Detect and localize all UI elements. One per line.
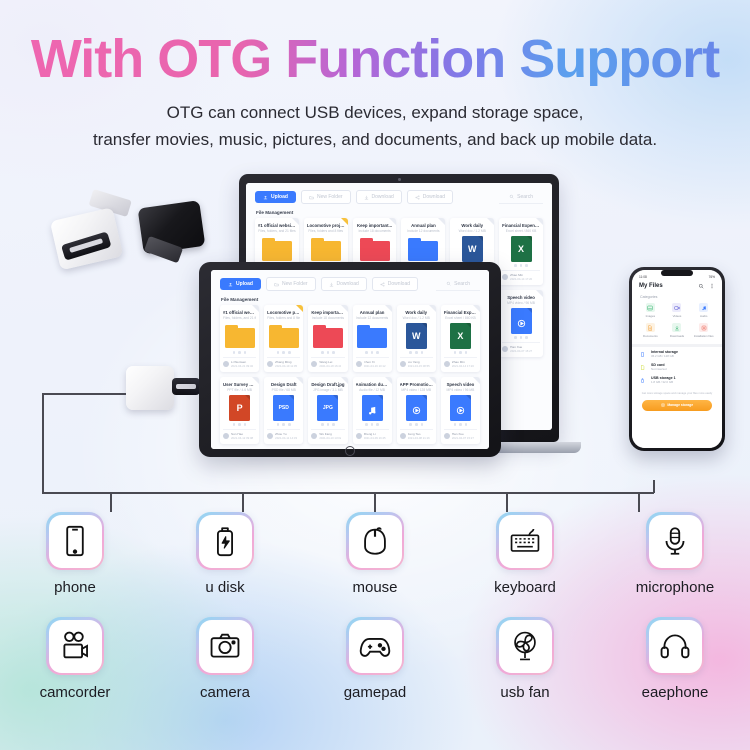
avatar xyxy=(311,433,317,439)
file-card[interactable]: Keep important...Include 18 documentsWan… xyxy=(308,305,347,372)
file-art: PSD xyxy=(267,395,300,421)
file-actions[interactable] xyxy=(444,423,477,426)
card-corner-icon xyxy=(473,377,480,384)
app-header: My Files xyxy=(632,280,722,293)
file-card[interactable]: Design DraftPSD file / 68 MBPSDZhou Yu20… xyxy=(264,377,303,444)
icon-tile xyxy=(346,617,404,675)
category-label: Images xyxy=(638,314,663,318)
section-title: File Management xyxy=(211,296,489,305)
device-icon-keyboard[interactable]: keyboard xyxy=(450,512,600,596)
file-subtitle: Word doc / 1.2 MB xyxy=(400,316,433,320)
category-label: Audio xyxy=(691,314,716,318)
file-actions[interactable] xyxy=(223,351,256,354)
device-icon-phone[interactable]: phone xyxy=(0,512,150,596)
avatar xyxy=(502,346,508,352)
folder-plus-icon xyxy=(309,195,314,200)
icon-tile xyxy=(496,617,554,675)
poster-stage: With OTG Function Support OTG can connec… xyxy=(0,0,750,750)
avatar xyxy=(311,361,317,367)
file-art xyxy=(356,236,394,262)
folder-plus-icon xyxy=(274,282,279,287)
file-card[interactable]: User Survey ReportPPT file / 4.6 MBPSun … xyxy=(220,377,259,444)
file-meta: Li Wenwen2021-04-21 09:32 xyxy=(231,360,253,368)
usb-a-slot xyxy=(61,231,112,260)
file-card[interactable]: Locomotive projectFiles, folders and 8 f… xyxy=(264,305,303,372)
storage-row[interactable]: Internal storage36.2 GB / 128 GB xyxy=(639,350,715,358)
file-card[interactable]: Annual planInclude 12 documentsChen Xi20… xyxy=(353,305,392,372)
wire-drop-udisk xyxy=(242,492,244,512)
file-art xyxy=(356,323,389,349)
file-type-icon: X xyxy=(450,323,471,349)
device-icon-u-disk[interactable]: u disk xyxy=(150,512,300,596)
adapter-body xyxy=(126,366,174,410)
file-subtitle: Files, folders, and 21 files xyxy=(223,316,256,320)
webcam-icon xyxy=(398,178,401,181)
category-item[interactable]: Audio xyxy=(691,303,716,318)
download-icon xyxy=(364,195,369,200)
avatar xyxy=(444,433,450,439)
storage-row[interactable]: SD cardNot inserted xyxy=(639,363,715,371)
more-menu-icon[interactable] xyxy=(709,283,715,289)
file-art: P xyxy=(223,395,256,421)
card-corner-icon xyxy=(341,305,348,312)
file-footer: Zhang Ming2021-04-19 11:05 xyxy=(267,357,300,369)
file-footer: Zhou Yu2021-04-11 14:33 xyxy=(267,429,300,441)
avatar xyxy=(356,433,362,439)
avatar xyxy=(502,274,508,280)
card-corner-icon xyxy=(292,218,299,225)
upload-icon xyxy=(228,282,233,287)
camcorder-icon xyxy=(49,620,102,673)
device-icon-mouse[interactable]: mouse xyxy=(300,512,450,596)
file-footer: Li Wenwen2021-04-21 09:32 xyxy=(223,357,256,369)
download-icon xyxy=(672,323,681,332)
search-input[interactable]: Search xyxy=(436,278,480,291)
search-icon xyxy=(509,194,514,199)
share-icon xyxy=(415,195,420,200)
device-icon-label: eaephone xyxy=(642,684,709,701)
phone-storage-icon xyxy=(639,350,646,358)
tablet-screen: Upload New Folder Download Download xyxy=(211,270,489,449)
fm-toolbar-tablet: Upload New Folder Download Download xyxy=(211,270,489,296)
icon-tile xyxy=(346,512,404,570)
avatar xyxy=(223,433,229,439)
file-subtitle: PPT file / 4.6 MB xyxy=(223,388,256,392)
device-icon-label: gamepad xyxy=(344,684,407,701)
share-label: Download xyxy=(388,281,410,287)
file-actions[interactable] xyxy=(267,423,300,426)
device-icon-gamepad[interactable]: gamepad xyxy=(300,617,450,701)
new-folder-button[interactable]: New Folder xyxy=(266,277,316,291)
file-subtitle: Include 12 documents xyxy=(404,229,442,233)
folder-icon xyxy=(262,238,292,261)
file-art: JPG xyxy=(311,395,344,421)
icon-tile xyxy=(646,617,704,675)
avatar xyxy=(267,361,273,367)
storage-list: Internal storage36.2 GB / 128 GBSD cardN… xyxy=(632,347,722,387)
file-title: #1 official website... xyxy=(258,223,296,228)
file-actions[interactable] xyxy=(400,423,433,426)
file-footer: Han Xue2021-04-07 15:27 xyxy=(502,342,540,354)
storage-text: USB storage 11.8 GB / 32.0 GB xyxy=(651,376,676,384)
folder-icon xyxy=(360,238,390,261)
adapter-body xyxy=(50,207,124,270)
search-placeholder: Search xyxy=(517,194,533,200)
file-art xyxy=(311,323,344,349)
file-title: Financial Expenditure... xyxy=(502,223,540,228)
card-corner-icon xyxy=(385,305,392,312)
card-corner-icon xyxy=(473,305,480,312)
file-title: Speech video xyxy=(502,295,540,300)
tablet-body: Upload New Folder Download Download xyxy=(199,262,501,457)
device-icon-label: mouse xyxy=(352,579,397,596)
share-label: Download xyxy=(423,194,445,200)
category-label: Downloads xyxy=(665,334,690,338)
file-meta: Han Xue2021-04-07 15:27 xyxy=(510,345,532,353)
microphone-icon xyxy=(649,515,702,568)
avatar xyxy=(223,361,229,367)
home-button[interactable] xyxy=(345,446,355,456)
file-meta: Zhao Min2021-04-14 17:20 xyxy=(510,273,532,281)
tablet-device: Upload New Folder Download Download xyxy=(199,262,501,457)
folder-icon xyxy=(408,238,438,261)
file-meta: Chen Xi2021-04-16 10:12 xyxy=(364,360,386,368)
card-corner-icon xyxy=(536,290,543,297)
card-corner-icon xyxy=(341,377,348,384)
categories-grid: ImagesVideosAudioDocumentsDownloadsInsta… xyxy=(632,302,722,344)
document-icon xyxy=(646,323,655,332)
device-icon-label: keyboard xyxy=(494,579,556,596)
file-meta: Zhao Min2021-04-14 17:20 xyxy=(452,360,474,368)
page-title: With OTG Function Support xyxy=(0,32,750,86)
file-type-icon: JPG xyxy=(317,395,338,421)
share-button[interactable]: Download xyxy=(372,277,418,291)
device-icon-label: camcorder xyxy=(40,684,111,701)
file-card[interactable]: Work dailyWord doc / 1.2 MBWLiu Yang2021… xyxy=(397,305,436,372)
file-type-icon xyxy=(406,395,427,421)
card-corner-icon xyxy=(487,218,494,225)
file-card[interactable]: #1 official website...Files, folders, an… xyxy=(220,305,259,372)
file-subtitle: Include 12 documents xyxy=(356,316,389,320)
card-corner-icon xyxy=(296,305,303,312)
folder-icon xyxy=(269,325,299,348)
file-subtitle: MP4 video / 96 MB xyxy=(502,301,540,305)
card-corner-icon xyxy=(252,377,259,384)
file-card[interactable]: Speech videoMP4 video / 96 MBHan Xue2021… xyxy=(441,377,480,444)
fm-toolbar: Upload New Folder Download Download xyxy=(246,183,552,209)
share-icon xyxy=(380,282,385,287)
file-footer: Zhao Min2021-04-14 17:20 xyxy=(502,270,540,282)
file-art: X xyxy=(502,236,540,262)
file-card[interactable]: Animation dubbingAudio file / 12 MBZheng… xyxy=(353,377,392,444)
category-item[interactable]: Installation files xyxy=(691,323,716,338)
search-placeholder: Search xyxy=(454,281,470,287)
file-art xyxy=(258,236,296,262)
phone-icon xyxy=(49,515,102,568)
file-actions[interactable] xyxy=(356,423,389,426)
image-icon xyxy=(646,303,655,312)
folder-icon xyxy=(225,325,255,348)
phone-notch xyxy=(661,270,693,276)
file-card[interactable]: Financial Expenditure...Excel sheet / 86… xyxy=(499,218,543,285)
file-title: Locomotive project xyxy=(307,223,345,228)
new-folder-button[interactable]: New Folder xyxy=(301,190,351,204)
download-label: Download xyxy=(337,281,359,287)
card-corner-icon xyxy=(341,218,348,225)
device-icon-camcorder[interactable]: camcorder xyxy=(0,617,150,701)
file-footer: Zheng Li2021-04-09 19:45 xyxy=(356,429,389,441)
phone-screen: 11:08 76% My Files Categories ImagesVide… xyxy=(632,270,722,448)
upload-label: Upload xyxy=(236,281,253,287)
file-meta: Zhang Ming2021-04-19 11:05 xyxy=(275,360,297,368)
file-type-icon xyxy=(362,395,383,421)
device-icon-label: microphone xyxy=(636,579,714,596)
search-input[interactable]: Search xyxy=(499,191,543,204)
avatar xyxy=(356,361,362,367)
app-title: My Files xyxy=(639,283,663,289)
file-type-icon: W xyxy=(406,323,427,349)
file-art xyxy=(400,395,433,421)
icon-tile xyxy=(646,512,704,570)
file-actions[interactable] xyxy=(502,336,540,339)
search-icon[interactable] xyxy=(698,283,704,289)
file-footer: Sun Hao2021-04-12 09:08 xyxy=(223,429,256,441)
file-actions[interactable] xyxy=(267,351,300,354)
otg-adapter-white-connected xyxy=(126,364,204,416)
storage-note: Get more storage space and manage your f… xyxy=(632,387,722,399)
wire-drop-keyboard xyxy=(506,492,508,512)
download-icon xyxy=(329,282,334,287)
upload-label: Upload xyxy=(271,194,288,200)
file-footer: Wu Fang2021-04-10 13:02 xyxy=(311,429,344,441)
file-footer: Chen Xi2021-04-16 10:12 xyxy=(356,357,389,369)
storage-text: Internal storage36.2 GB / 128 GB xyxy=(651,350,678,358)
avatar xyxy=(267,433,273,439)
upload-button[interactable]: Upload xyxy=(255,191,296,203)
audio-icon xyxy=(699,303,708,312)
icon-tile xyxy=(196,617,254,675)
icon-tile xyxy=(496,512,554,570)
manage-storage-label: Manage storage xyxy=(667,403,693,407)
new-folder-label: New Folder xyxy=(317,194,343,200)
earphone-icon xyxy=(649,620,702,673)
camera-icon xyxy=(199,620,252,673)
avatar xyxy=(400,433,406,439)
file-meta: Wu Fang2021-04-10 13:02 xyxy=(319,432,341,440)
category-item[interactable]: Downloads xyxy=(665,323,690,338)
wire-down-left xyxy=(42,393,44,493)
mouse-icon xyxy=(349,515,402,568)
device-icon-microphone[interactable]: microphone xyxy=(600,512,750,596)
file-card[interactable]: Design Draft.jpgJPG image / 3.1 MBJPGWu … xyxy=(308,377,347,444)
icon-tile xyxy=(46,617,104,675)
card-corner-icon xyxy=(252,305,259,312)
file-meta: Liu Yang2021-04-15 08:55 xyxy=(408,360,430,368)
file-footer: Liu Yang2021-04-15 08:55 xyxy=(400,357,433,369)
search-icon xyxy=(446,281,451,286)
file-type-icon xyxy=(511,308,532,334)
card-corner-icon xyxy=(389,218,396,225)
category-item[interactable]: Documents xyxy=(638,323,663,338)
file-meta: Sun Hao2021-04-12 09:08 xyxy=(231,432,253,440)
file-subtitle: Audio file / 12 MB xyxy=(356,388,389,392)
file-subtitle: MP4 video / 96 MB xyxy=(444,388,477,392)
file-subtitle: Files, folders and 8 files xyxy=(267,316,300,320)
file-type-icon: PSD xyxy=(273,395,294,421)
file-subtitle: Files, folders, and 21 files xyxy=(258,229,296,233)
card-corner-icon xyxy=(296,377,303,384)
file-actions[interactable] xyxy=(400,351,433,354)
share-button[interactable]: Download xyxy=(407,190,453,204)
manage-storage-button[interactable]: Manage storage xyxy=(642,400,712,411)
file-actions[interactable] xyxy=(311,351,344,354)
device-icon-label: u disk xyxy=(205,579,244,596)
subtitle-line-2: transfer movies, music, pictures, and do… xyxy=(0,127,750,153)
file-art xyxy=(223,323,256,349)
file-subtitle: Include 18 documents xyxy=(356,229,394,233)
file-art xyxy=(356,395,389,421)
file-subtitle: Files, folders and 8 files xyxy=(307,229,345,233)
file-subtitle: Excel sheet / 860 KB xyxy=(444,316,477,320)
categories-label: Categories xyxy=(632,293,722,302)
file-title: Keep important... xyxy=(356,223,394,228)
file-subtitle: MP4 video / 128 MB xyxy=(400,388,433,392)
file-footer: Han Xue2021-04-07 15:27 xyxy=(444,429,477,441)
storage-row[interactable]: USB storage 11.8 GB / 32.0 GB xyxy=(639,376,715,384)
file-art: W xyxy=(400,323,433,349)
category-label: Documents xyxy=(638,334,663,338)
card-corner-icon xyxy=(536,218,543,225)
folder-icon xyxy=(357,325,387,348)
file-art xyxy=(404,236,442,262)
device-icon-row-2: camcordercameragamepadusb faneaephone xyxy=(0,617,750,701)
file-card[interactable]: Financial Expenditure...Excel sheet / 86… xyxy=(441,305,480,372)
file-type-icon xyxy=(450,395,471,421)
category-item[interactable]: Videos xyxy=(665,303,690,318)
wire-drop-mouse xyxy=(374,492,376,512)
file-actions[interactable] xyxy=(311,423,344,426)
wire-drop-phone xyxy=(110,492,112,512)
file-footer: Feng Tao2021-04-08 21:16 xyxy=(400,429,433,441)
card-corner-icon xyxy=(429,377,436,384)
new-folder-label: New Folder xyxy=(282,281,308,287)
file-meta: Zheng Li2021-04-09 19:45 xyxy=(364,432,386,440)
file-card[interactable]: APP Promotional VideoMP4 video / 128 MBF… xyxy=(397,377,436,444)
file-title: Work daily xyxy=(453,223,491,228)
usb-fan-icon xyxy=(499,620,552,673)
file-grid-tablet: #1 official website...Files, folders, an… xyxy=(211,305,489,444)
sd-card-icon xyxy=(639,363,646,371)
file-meta: Zhou Yu2021-04-11 14:33 xyxy=(275,432,297,440)
download-button[interactable]: Download xyxy=(356,190,402,204)
device-icon-label: camera xyxy=(200,684,250,701)
file-manager-tablet: Upload New Folder Download Download xyxy=(211,270,489,449)
upload-button[interactable]: Upload xyxy=(220,278,261,290)
file-subtitle: JPG image / 3.1 MB xyxy=(311,388,344,392)
file-subtitle: Word doc / 1.2 MB xyxy=(453,229,491,233)
file-art xyxy=(502,308,540,334)
card-corner-icon xyxy=(385,377,392,384)
file-footer: Zhao Min2021-04-14 17:20 xyxy=(444,357,477,369)
file-title: Annual plan xyxy=(404,223,442,228)
device-icon-camera[interactable]: camera xyxy=(150,617,300,701)
icon-tile xyxy=(196,512,254,570)
subtitle-line-1: OTG can connect USB devices, expand stor… xyxy=(0,100,750,126)
file-subtitle: Include 18 documents xyxy=(311,316,344,320)
storage-text: SD cardNot inserted xyxy=(651,363,667,371)
folder-icon xyxy=(313,325,343,348)
status-time: 11:08 xyxy=(639,275,647,279)
file-subtitle: Excel sheet / 860 KB xyxy=(502,229,540,233)
file-type-icon: X xyxy=(511,236,532,262)
wire-bus xyxy=(42,492,654,494)
file-actions[interactable] xyxy=(502,264,540,267)
avatar xyxy=(444,361,450,367)
my-files-app: 11:08 76% My Files Categories ImagesVide… xyxy=(632,270,722,448)
video-icon xyxy=(672,303,681,312)
category-label: Installation files xyxy=(691,334,716,338)
phone-device: 11:08 76% My Files Categories ImagesVide… xyxy=(629,267,725,451)
device-icon-usb-fan[interactable]: usb fan xyxy=(450,617,600,701)
file-actions[interactable] xyxy=(444,351,477,354)
upload-icon xyxy=(263,195,268,200)
gamepad-icon xyxy=(349,620,402,673)
apk-icon xyxy=(699,323,708,332)
file-meta: Wang Lei2021-04-18 16:40 xyxy=(319,360,341,368)
download-button[interactable]: Download xyxy=(321,277,367,291)
keyboard-icon xyxy=(499,515,552,568)
device-icon-row-1: phoneu diskmousekeyboardmicrophone xyxy=(0,512,750,596)
file-art: X xyxy=(444,323,477,349)
file-art xyxy=(444,395,477,421)
avatar xyxy=(400,361,406,367)
file-actions[interactable] xyxy=(356,351,389,354)
icon-tile xyxy=(46,512,104,570)
file-art xyxy=(307,236,345,262)
file-subtitle: PSD file / 68 MB xyxy=(267,388,300,392)
file-actions[interactable] xyxy=(223,423,256,426)
status-battery: 76% xyxy=(709,275,715,279)
wire-drop-microphone xyxy=(638,492,640,512)
folder-icon xyxy=(311,238,341,261)
category-item[interactable]: Images xyxy=(638,303,663,318)
file-footer: Wang Lei2021-04-18 16:40 xyxy=(311,357,344,369)
section-title: File Management xyxy=(246,209,552,218)
category-label: Videos xyxy=(665,314,690,318)
phone-body: 11:08 76% My Files Categories ImagesVide… xyxy=(629,267,725,451)
file-art xyxy=(267,323,300,349)
file-type-icon: P xyxy=(229,395,250,421)
device-icon-eaephone[interactable]: eaephone xyxy=(600,617,750,701)
card-corner-icon xyxy=(429,305,436,312)
storage-icon xyxy=(661,403,665,407)
wire-riser-right xyxy=(653,480,655,493)
usb-a-slot xyxy=(172,378,200,395)
file-card[interactable]: Speech videoMP4 video / 96 MBHan Xue2021… xyxy=(499,290,543,357)
device-icon-label: phone xyxy=(54,579,96,596)
file-type-icon: W xyxy=(462,236,483,262)
file-meta: Feng Tao2021-04-08 21:16 xyxy=(408,432,430,440)
download-label: Download xyxy=(372,194,394,200)
card-corner-icon xyxy=(438,218,445,225)
usb-storage-icon xyxy=(639,376,646,384)
file-art: W xyxy=(453,236,491,262)
udisk-icon xyxy=(199,515,252,568)
file-meta: Han Xue2021-04-07 15:27 xyxy=(452,432,474,440)
device-icon-label: usb fan xyxy=(500,684,549,701)
